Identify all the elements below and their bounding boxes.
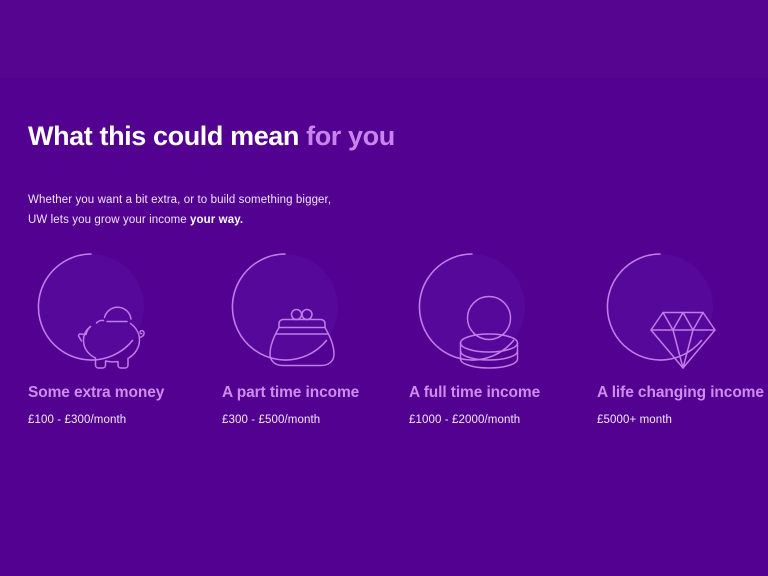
card-title: A full time income <box>409 384 579 403</box>
slide-root: What this could mean for you Whether you… <box>0 0 768 576</box>
card-title: A life changing income <box>597 384 767 403</box>
card-price: £1000 - £2000/month <box>409 414 594 426</box>
diamond-icon <box>597 252 747 374</box>
slide-content: What this could mean for you Whether you… <box>0 0 768 576</box>
subtitle-line-2-prefix: UW lets you grow your income <box>28 214 190 226</box>
subtitle-line-2: UW lets you grow your income your way. <box>28 210 331 230</box>
card-price: £100 - £300/month <box>28 414 213 426</box>
icon-container <box>409 252 559 374</box>
benefit-card: A part time income £300 - £500/month <box>222 252 407 426</box>
benefit-cards: Some extra money £100 - £300/month <box>0 252 768 467</box>
card-title: A part time income <box>222 384 392 403</box>
icon-container <box>28 252 178 374</box>
icon-container <box>222 252 372 374</box>
card-price: £5000+ month <box>597 414 768 426</box>
benefit-card: A life changing income £5000+ month <box>597 252 768 426</box>
subtitle-emphasis: your way. <box>190 214 243 226</box>
icon-container <box>597 252 747 374</box>
page-subtitle: Whether you want a bit extra, or to buil… <box>28 190 331 230</box>
piggy-bank-icon <box>28 252 178 374</box>
coin-stack-icon <box>409 252 559 374</box>
page-title-main: What this could mean <box>28 121 306 151</box>
page-title: What this could mean for you <box>28 122 395 152</box>
coin-purse-icon <box>222 252 372 374</box>
benefit-card: Some extra money £100 - £300/month <box>28 252 213 426</box>
benefit-card: A full time income £1000 - £2000/month <box>409 252 594 426</box>
card-title: Some extra money <box>28 384 198 403</box>
card-price: £300 - £500/month <box>222 414 407 426</box>
page-title-accent: for you <box>306 121 395 151</box>
subtitle-line-1: Whether you want a bit extra, or to buil… <box>28 190 331 210</box>
